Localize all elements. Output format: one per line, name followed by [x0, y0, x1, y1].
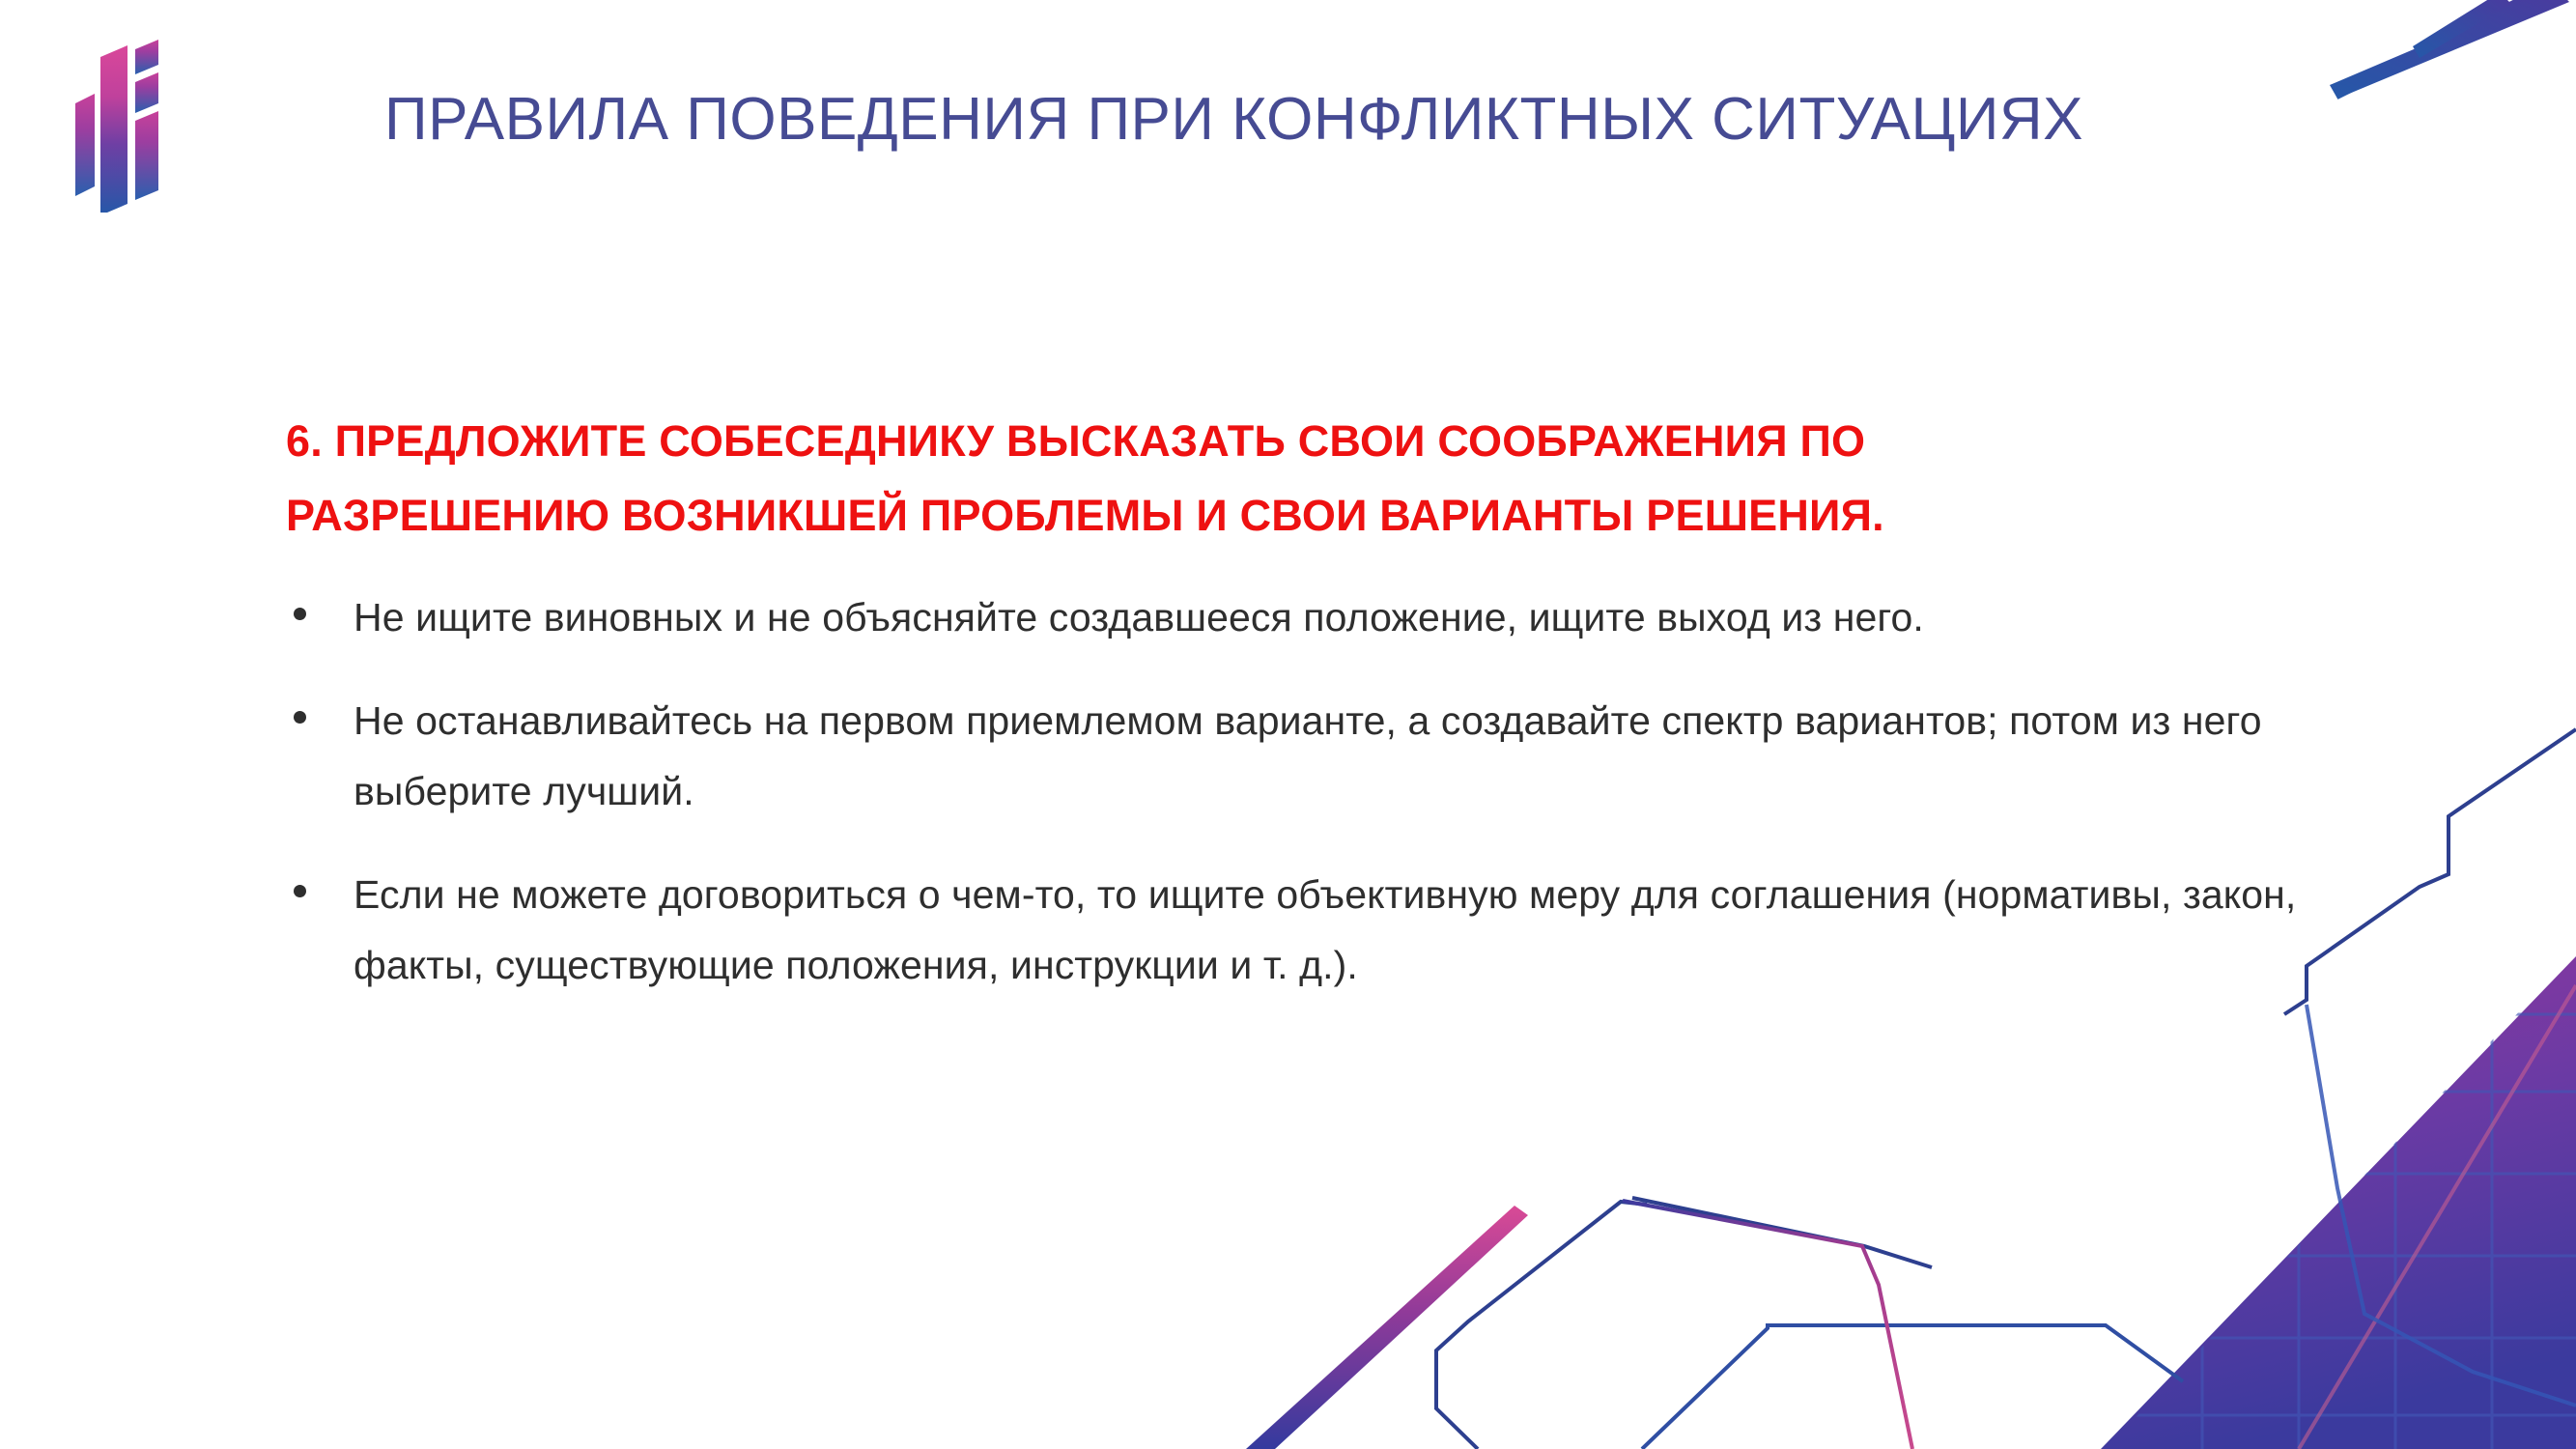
bottom-right-hex-polyline [1642, 1325, 2183, 1449]
presentation-slide: ПРАВИЛА ПОВЕДЕНИЯ ПРИ КОНФЛИКТНЫХ СИТУАЦ… [0, 0, 2576, 1449]
pink-gradient-polyline [1623, 1201, 1912, 1449]
thick-gradient-diagonal [1246, 1206, 1528, 1449]
bullet-dot-icon [294, 711, 306, 724]
bullet-dot-icon [294, 608, 306, 620]
bottom-center-blue-polyline-2 [1632, 1198, 1932, 1267]
building-towers-logo-icon [58, 34, 184, 213]
slide-content: 6. ПРЕДЛОЖИТЕ СОБЕСЕДНИКУ ВЫСКАЗАТЬ СВОИ… [286, 404, 2372, 1001]
list-item: Не ищите виновных и не объясняйте создав… [286, 582, 2372, 653]
list-item: Если не можете договориться о чем-то, то… [286, 860, 2372, 1001]
bullet-dot-icon [294, 885, 306, 897]
slide-title: ПРАВИЛА ПОВЕДЕНИЯ ПРИ КОНФЛИКТНЫХ СИТУАЦ… [384, 87, 2316, 153]
list-item-text: Не останавливайтесь на первом приемлемом… [354, 698, 2262, 813]
list-item-text: Не ищите виновных и не объясняйте создав… [354, 595, 1924, 639]
bullet-list: Не ищите виновных и не объясняйте создав… [286, 582, 2372, 1001]
bottom-center-blue-polyline [1436, 1202, 1647, 1449]
list-item-text: Если не можете договориться о чем-то, то… [354, 872, 2296, 987]
triangle-inner-polyline [2307, 1005, 2576, 1406]
top-right-diagonal-lines [2323, 0, 2569, 99]
section-heading: 6. ПРЕДЛОЖИТЕ СОБЕСЕДНИКУ ВЫСКАЗАТЬ СВОИ… [286, 404, 2160, 554]
list-item: Не останавливайтесь на первом приемлемом… [286, 686, 2372, 827]
